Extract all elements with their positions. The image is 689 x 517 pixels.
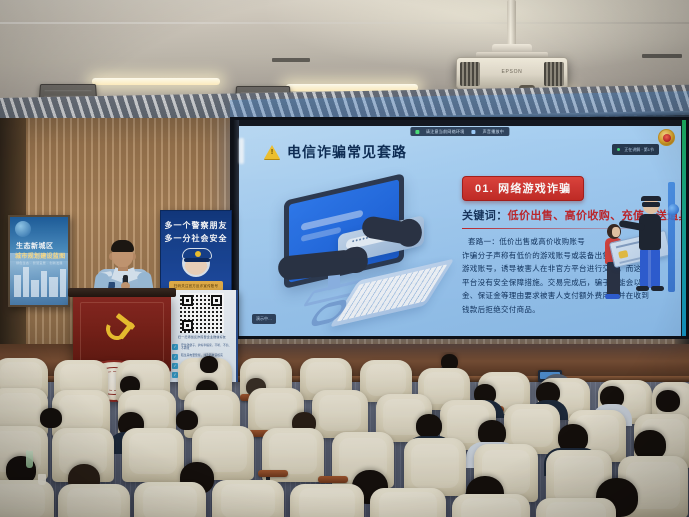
qr-eye	[182, 320, 193, 331]
cap-badge-icon	[195, 251, 201, 257]
poster-title-1: 生态新城区	[16, 241, 54, 251]
thief-shoe	[651, 286, 664, 291]
banner-line-1: 多一个警察朋友	[161, 220, 231, 231]
qr-eye	[211, 295, 222, 306]
communist-party-emblem-icon	[104, 316, 140, 344]
list-item-text: 守住钱袋子，护好幸福家，不听、不信、不转账	[181, 344, 232, 351]
keyword-label: 关键词：	[462, 210, 508, 222]
thief-body	[639, 214, 661, 250]
slide-right-strip	[668, 182, 675, 292]
card-chip-icon	[618, 250, 628, 259]
audience-head	[176, 410, 198, 430]
audience-head	[40, 408, 62, 428]
slide-footer-pill: 演示中…	[252, 314, 276, 324]
audience-head	[200, 356, 218, 373]
seat[interactable]	[134, 482, 206, 517]
screen-glare	[239, 138, 244, 164]
armrest	[258, 470, 288, 477]
ceiling-slot	[272, 58, 310, 62]
slide-status-text: 正在讲解 · 第1节	[624, 147, 654, 153]
water-bottle	[26, 450, 33, 468]
status-dot-icon	[617, 148, 620, 151]
banner-line-2: 多一分社会安全	[161, 233, 231, 244]
slide-bullet-dot	[668, 204, 679, 215]
projector-brand-label: EPSON	[457, 69, 567, 75]
warning-triangle-icon	[264, 145, 280, 159]
thief-shoe	[636, 286, 649, 291]
ceiling-projector: EPSON	[456, 57, 568, 89]
thief-hat-icon	[641, 196, 661, 201]
signal-icon	[415, 130, 419, 134]
toolbar-item-2: 声音播放中	[483, 129, 505, 135]
victim-shoe	[605, 294, 620, 299]
speaker-icon	[472, 130, 476, 134]
seat[interactable]	[0, 480, 54, 517]
wall-poster: 生态新城区 城市规划建设蓝图 绿色生态 · 智慧宜居 · 创新发展	[8, 215, 70, 307]
armrest	[318, 476, 348, 483]
ceiling-slot	[642, 54, 682, 58]
thief-illustration	[603, 196, 677, 316]
lecture-hall-photo: EPSON 请注意当前网络环境 声音播放中 正在讲解 · 第	[0, 0, 689, 517]
audience-seating	[0, 352, 689, 517]
seat[interactable]	[58, 484, 130, 517]
podium-top	[68, 288, 176, 297]
screen-edge-light	[682, 120, 686, 336]
list-item: ✓ 守住钱袋子，护好幸福家，不听、不信、不转账	[172, 344, 232, 351]
slide-status-pill: 正在讲解 · 第1节	[612, 144, 659, 155]
poster-cityscape	[10, 261, 68, 305]
thief-mask-icon	[642, 202, 660, 207]
seat[interactable]	[452, 494, 530, 517]
ceiling-light-strip	[92, 78, 220, 85]
cap-brim-icon	[184, 258, 210, 262]
monitor-illustration	[258, 181, 448, 331]
seat[interactable]	[370, 488, 446, 517]
toolbar-item-1: 请注意当前网络环境	[426, 129, 465, 135]
paper-cup	[38, 474, 46, 485]
seat[interactable]	[290, 484, 364, 517]
seat[interactable]	[212, 480, 284, 517]
seat[interactable]	[122, 428, 184, 482]
officer-hair	[111, 240, 134, 252]
slide-header: 电信诈骗常见套路	[264, 142, 407, 162]
qr-code-icon[interactable]	[180, 293, 224, 333]
thief-legs	[640, 248, 660, 288]
check-icon: ✓	[172, 344, 178, 350]
china-police-badge-icon	[658, 129, 675, 146]
slide-footer-text: 演示中…	[256, 316, 272, 322]
projection-screen[interactable]: 请注意当前网络环境 声音播放中 正在讲解 · 第1节 电信诈骗常见套路	[230, 117, 689, 339]
projector-pole	[507, 0, 516, 48]
white-banner-caption: 扫一扫添加反诈民警企业微信好友	[172, 335, 232, 339]
section-badge: 01. 网络游戏诈骗	[462, 176, 584, 201]
globe-icon	[15, 221, 31, 237]
slide-toolbar[interactable]: 请注意当前网络环境 声音播放中	[410, 127, 509, 136]
slide-canvas: 请注意当前网络环境 声音播放中 正在讲解 · 第1节 电信诈骗常见套路	[238, 126, 681, 336]
audience-head	[416, 414, 442, 438]
seat[interactable]	[312, 390, 368, 438]
slide-title-text: 电信诈骗常见套路	[287, 142, 407, 162]
poster-title-2: 城市规划建设蓝图	[15, 251, 65, 260]
qr-eye	[182, 295, 193, 306]
seat[interactable]	[536, 498, 616, 517]
police-officer-avatar-icon	[182, 249, 210, 277]
audience-head	[656, 390, 680, 412]
victim-face	[612, 227, 620, 237]
